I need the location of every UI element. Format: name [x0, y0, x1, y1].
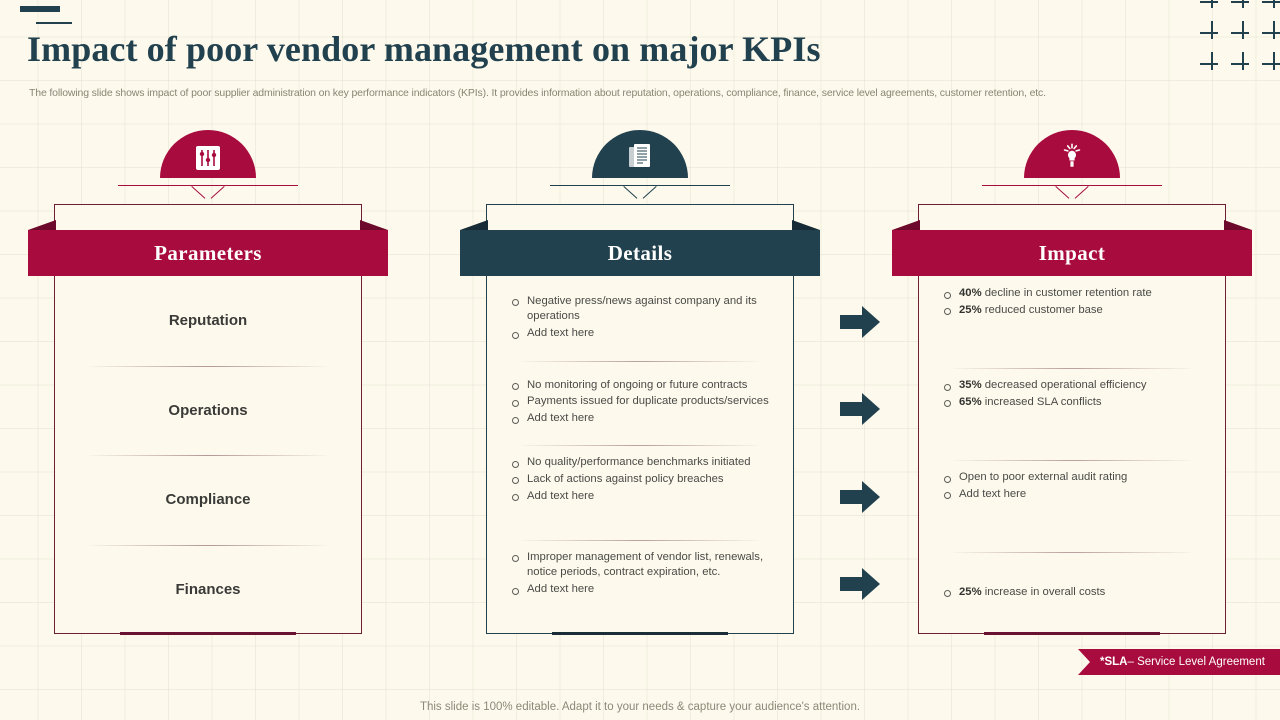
chevron-down-icon — [1057, 186, 1087, 202]
list-item[interactable]: No quality/performance benchmarks initia… — [510, 455, 772, 471]
list-item[interactable]: Add text here — [510, 411, 772, 427]
sla-marker: *SLA — [1100, 656, 1127, 668]
column-parameters: Parameters Reputation Operations Complia… — [28, 130, 388, 635]
plus-icon — [1227, 48, 1258, 79]
chevron-down-icon — [625, 186, 655, 202]
plus-icon — [1258, 48, 1280, 79]
bullet-list: 40% decline in customer retention rate 2… — [942, 286, 1204, 320]
ribbon-fold-right — [1224, 220, 1252, 230]
parameters-icon-badge — [160, 130, 256, 178]
decorative-plus-grid — [1196, 0, 1280, 86]
parameter-row[interactable]: Compliance — [54, 455, 362, 545]
impact-value: 65% — [959, 396, 982, 408]
sla-legend-badge: *SLA– Service Level Agreement — [1078, 649, 1280, 675]
title-accent-dash-secondary — [36, 22, 72, 24]
plus-icon — [1258, 17, 1280, 48]
list-item[interactable]: Negative press/news against company and … — [510, 294, 772, 326]
details-connector — [550, 185, 730, 205]
parameters-row-list: Reputation Operations Compliance Finance… — [54, 276, 362, 634]
arrow-right-icon — [838, 564, 882, 604]
impact-group: 25% increase in overall costs — [918, 552, 1226, 634]
impact-value: 40% — [959, 287, 982, 299]
arrow-right-icon — [838, 389, 882, 429]
impact-text: reduced customer base — [985, 304, 1103, 316]
page-title: Impact of poor vendor management on majo… — [27, 28, 821, 70]
parameters-ribbon: Parameters — [28, 230, 388, 276]
plus-icon — [1196, 0, 1227, 17]
bullet-list: No monitoring of ongoing or future contr… — [510, 378, 772, 428]
bullet-list: 25% increase in overall costs — [942, 585, 1204, 602]
sla-legend-text: *SLA– Service Level Agreement — [1100, 656, 1265, 668]
details-group: Improper management of vendor list, rene… — [486, 540, 794, 635]
impact-text: decline in customer retention rate — [985, 287, 1152, 299]
details-group: No monitoring of ongoing or future contr… — [486, 361, 794, 446]
ribbon-fold-left — [460, 220, 488, 230]
details-heading: Details — [460, 230, 820, 276]
list-item[interactable]: Add text here — [510, 326, 772, 342]
impact-connector — [982, 185, 1162, 205]
plus-icon — [1258, 0, 1280, 17]
impact-icon-badge — [1024, 130, 1120, 178]
impact-ribbon: Impact — [892, 230, 1252, 276]
list-item[interactable]: 25% increase in overall costs — [942, 585, 1204, 601]
impact-value: 35% — [959, 379, 982, 391]
bullet-list: Improper management of vendor list, rene… — [510, 550, 772, 599]
plus-icon — [1227, 0, 1258, 17]
details-ribbon: Details — [460, 230, 820, 276]
bullet-list: 35% decreased operational efficiency 65%… — [942, 378, 1204, 412]
parameter-row[interactable]: Operations — [54, 366, 362, 456]
details-group: No quality/performance benchmarks initia… — [486, 445, 794, 540]
impact-text: decreased operational efficiency — [985, 379, 1147, 391]
impact-text: Open to poor external audit rating — [959, 471, 1127, 483]
list-item[interactable]: Improper management of vendor list, rene… — [510, 550, 772, 582]
impact-text: increase in overall costs — [985, 586, 1106, 598]
title-accent-dash — [20, 6, 60, 12]
plus-icon — [1196, 48, 1227, 79]
list-item[interactable]: Lack of actions against policy breaches — [510, 472, 772, 488]
sliders-icon — [160, 130, 256, 178]
impact-group: 35% decreased operational efficiency 65%… — [918, 368, 1226, 460]
plus-icon — [1227, 17, 1258, 48]
impact-heading: Impact — [892, 230, 1252, 276]
impact-group: 40% decline in customer retention rate 2… — [918, 276, 1226, 368]
parameters-connector — [118, 185, 298, 205]
list-item[interactable]: Add text here — [942, 487, 1204, 503]
ribbon-fold-right — [792, 220, 820, 230]
list-item[interactable]: Add text here — [510, 582, 772, 598]
arrow-right-icon — [838, 477, 882, 517]
bullet-list: No quality/performance benchmarks initia… — [510, 455, 772, 505]
column-details: Details Negative press/news against comp… — [460, 130, 820, 635]
list-item[interactable]: 35% decreased operational efficiency — [942, 378, 1204, 394]
column-impact: Impact 40% decline in customer retention… — [892, 130, 1252, 635]
parameter-row[interactable]: Finances — [54, 545, 362, 635]
list-item[interactable]: 65% increased SLA conflicts — [942, 395, 1204, 411]
bullet-list: Negative press/news against company and … — [510, 294, 772, 343]
impact-value: 25% — [959, 304, 982, 316]
footer-note: This slide is 100% editable. Adapt it to… — [0, 701, 1280, 713]
impact-value: 25% — [959, 586, 982, 598]
lightbulb-idea-icon — [1024, 130, 1120, 178]
plus-icon — [1196, 17, 1227, 48]
ribbon-fold-right — [360, 220, 388, 230]
list-item[interactable]: Payments issued for duplicate products/s… — [510, 394, 772, 410]
details-group-list: Negative press/news against company and … — [486, 276, 794, 634]
list-item[interactable]: 40% decline in customer retention rate — [942, 286, 1204, 302]
details-icon-badge — [592, 130, 688, 178]
documents-icon — [592, 130, 688, 178]
page-subtitle: The following slide shows impact of poor… — [29, 87, 1259, 99]
ribbon-fold-left — [892, 220, 920, 230]
ribbon-fold-left — [28, 220, 56, 230]
list-item[interactable]: Open to poor external audit rating — [942, 470, 1204, 486]
impact-text: increased SLA conflicts — [985, 396, 1102, 408]
impact-text: Add text here — [959, 488, 1026, 500]
list-item[interactable]: No monitoring of ongoing or future contr… — [510, 378, 772, 394]
parameter-row[interactable]: Reputation — [54, 276, 362, 366]
chevron-down-icon — [193, 186, 223, 202]
list-item[interactable]: Add text here — [510, 489, 772, 505]
list-item[interactable]: 25% reduced customer base — [942, 303, 1204, 319]
impact-group-list: 40% decline in customer retention rate 2… — [918, 276, 1226, 634]
parameters-heading: Parameters — [28, 230, 388, 276]
bullet-list: Open to poor external audit rating Add t… — [942, 470, 1204, 504]
arrow-right-icon — [838, 302, 882, 342]
details-group: Negative press/news against company and … — [486, 276, 794, 361]
sla-description: – Service Level Agreement — [1127, 656, 1264, 668]
impact-group: Open to poor external audit rating Add t… — [918, 460, 1226, 552]
